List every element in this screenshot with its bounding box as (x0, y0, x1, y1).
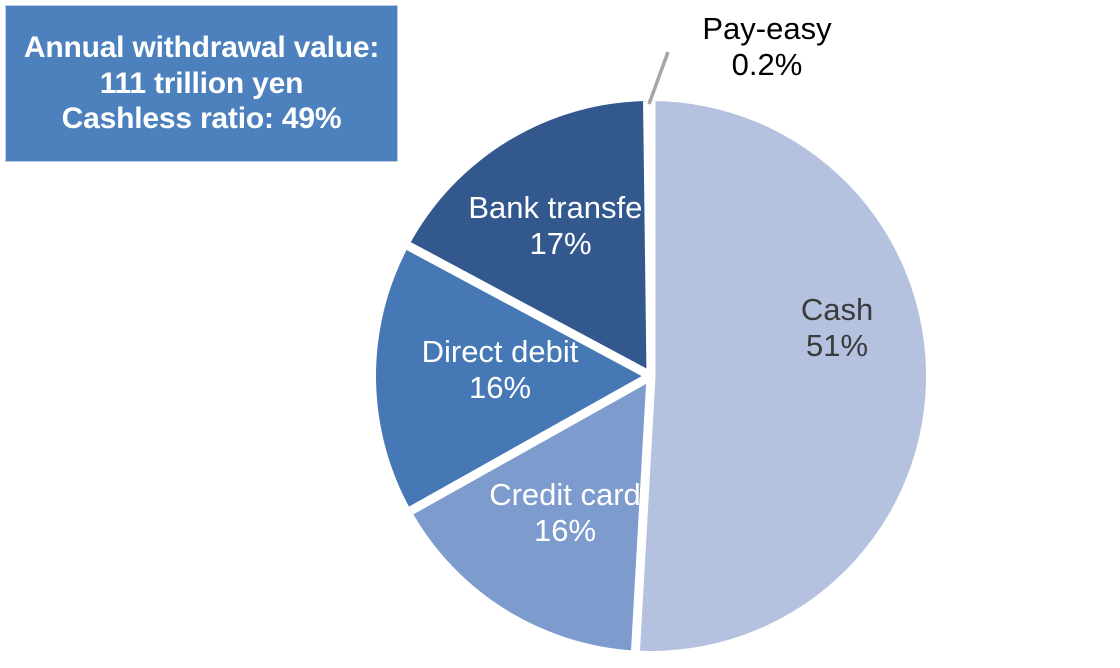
callout-line-3: Cashless ratio: 49% (62, 101, 342, 136)
chart-canvas: Annual withdrawal value: 111 trillion ye… (0, 0, 1120, 668)
callout-line-2: 111 trillion yen (100, 66, 304, 101)
callout-line-1: Annual withdrawal value: (24, 30, 379, 65)
pie-slice-cash[interactable] (635, 101, 926, 651)
pay-easy-leader-line (649, 52, 668, 104)
callout-box: Annual withdrawal value: 111 trillion ye… (5, 5, 398, 162)
